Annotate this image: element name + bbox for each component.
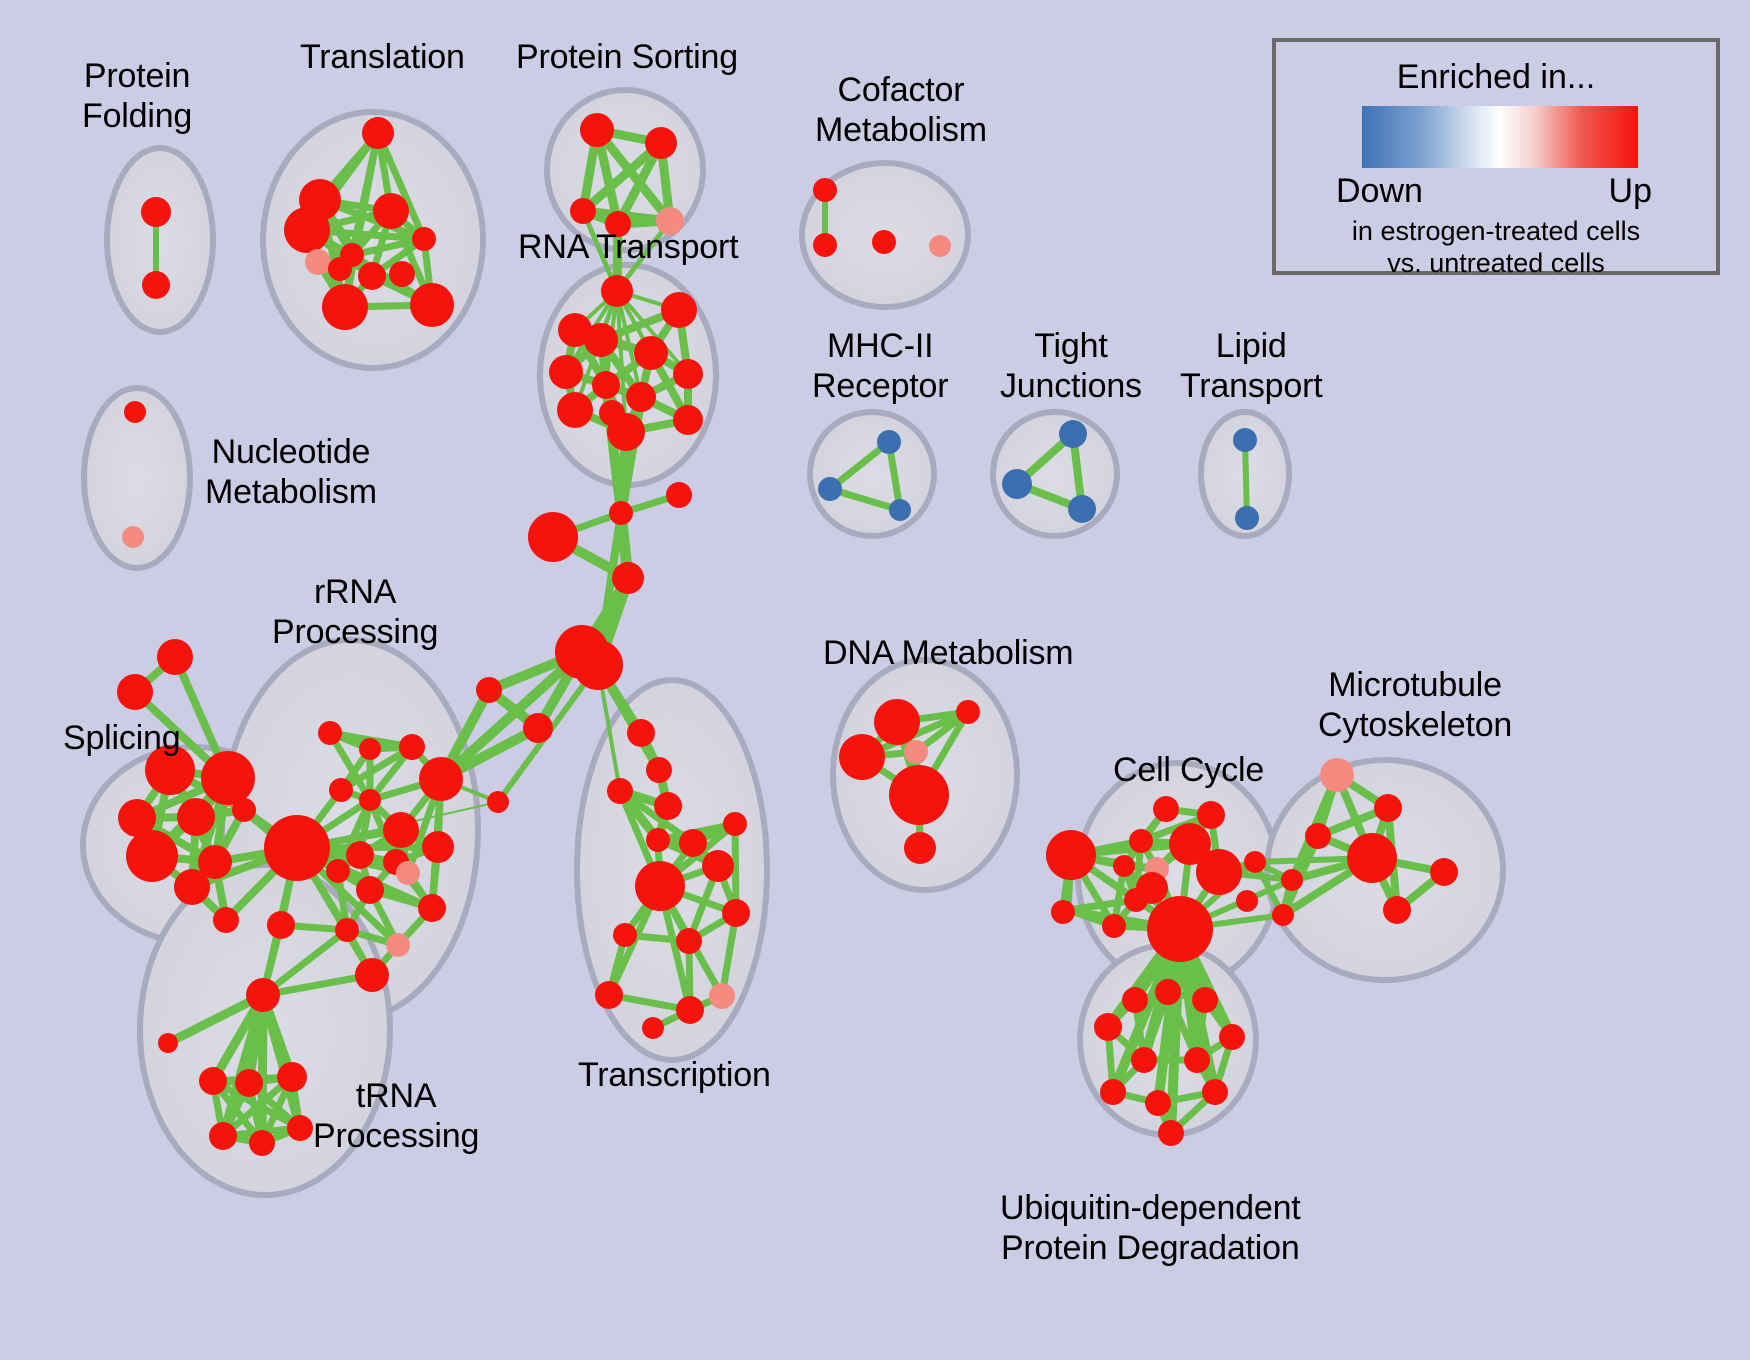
legend-up-label: Up	[1609, 172, 1652, 211]
enrichment-map-figure: Protein Folding Translation Protein Sort…	[0, 0, 1750, 1360]
cluster-label-protein-sorting: Protein Sorting	[516, 37, 738, 77]
cluster-label-ubiquitin-protein-degradation: Ubiquitin-dependent Protein Degradation	[1000, 1188, 1301, 1268]
cluster-label-mhc-ii-receptor: MHC-II Receptor	[812, 326, 948, 406]
legend-subtitle-line1: in estrogen-treated cells	[1276, 216, 1716, 247]
legend-subtitle-line2: vs. untreated cells	[1276, 248, 1716, 279]
cluster-label-translation: Translation	[300, 37, 465, 77]
legend-color-bar	[1362, 106, 1638, 168]
hull-protein-folding	[107, 148, 213, 332]
cluster-label-nucleotide-metabolism: Nucleotide Metabolism	[205, 432, 377, 512]
cluster-label-splicing: Splicing	[63, 718, 180, 758]
cluster-label-cofactor-metabolism: Cofactor Metabolism	[815, 70, 987, 150]
legend-title: Enriched in...	[1276, 58, 1716, 97]
cluster-label-transcription: Transcription	[578, 1055, 771, 1095]
cluster-label-microtubule-cytoskeleton: Microtubule Cytoskeleton	[1318, 665, 1512, 745]
legend-box: Enriched in... Down Up in estrogen-treat…	[1272, 38, 1720, 275]
cluster-label-rrna-processing: rRNA Processing	[272, 572, 438, 652]
cluster-label-lipid-transport: Lipid Transport	[1180, 326, 1322, 406]
cluster-label-tight-junctions: Tight Junctions	[1000, 326, 1142, 406]
cluster-label-protein-folding: Protein Folding	[82, 56, 192, 136]
cluster-label-cell-cycle: Cell Cycle	[1113, 750, 1264, 790]
legend-down-label: Down	[1336, 172, 1423, 211]
hull-mhc-ii-receptor	[810, 412, 934, 536]
cluster-label-trna-processing: tRNA Processing	[313, 1076, 479, 1156]
cluster-label-dna-metabolism: DNA Metabolism	[823, 633, 1073, 673]
cluster-label-rna-transport: RNA Transport	[518, 227, 738, 267]
